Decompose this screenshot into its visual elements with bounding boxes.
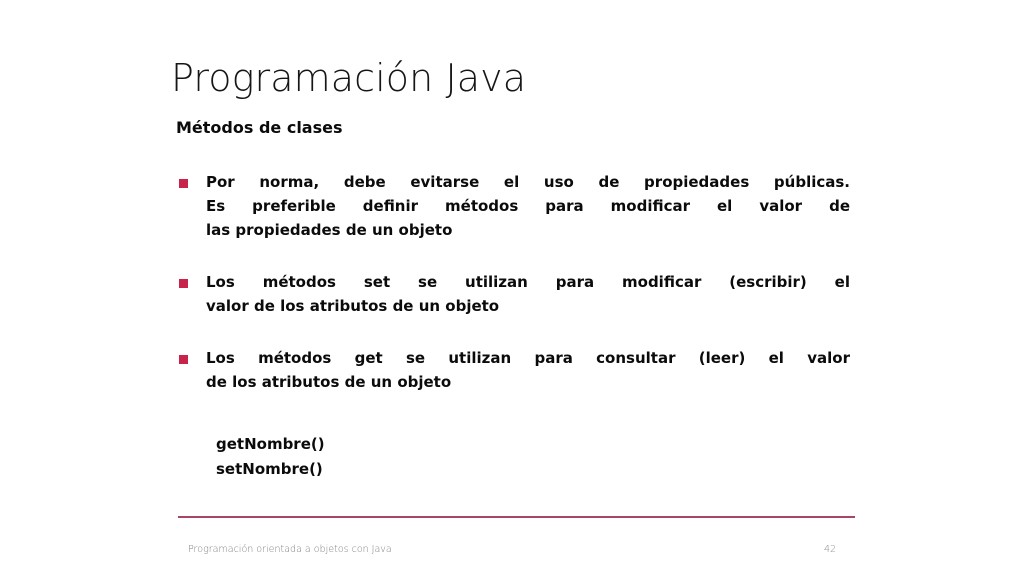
page-title: Programación Java bbox=[171, 56, 526, 100]
text-line: Por norma, debe evitarse el uso de propi… bbox=[206, 170, 850, 194]
code-sample: getNombre() setNombre() bbox=[216, 432, 325, 482]
square-bullet-icon bbox=[179, 279, 188, 288]
square-bullet-icon bbox=[179, 355, 188, 364]
slide-canvas: Programación Java Métodos de clases Por … bbox=[0, 0, 1024, 576]
footer-divider bbox=[178, 516, 855, 518]
text-line: Los métodos get se utilizan para consult… bbox=[206, 346, 850, 370]
text-line: valor de los atributos de un objeto bbox=[206, 294, 850, 318]
list-item: Los métodos get se utilizan para consult… bbox=[178, 346, 850, 394]
section-heading: Métodos de clases bbox=[176, 117, 343, 139]
list-item: Por norma, debe evitarse el uso de propi… bbox=[178, 170, 850, 242]
list-item: Los métodos set se utilizan para modific… bbox=[178, 270, 850, 318]
list-item-text: Los métodos get se utilizan para consult… bbox=[206, 346, 850, 394]
text-line: Los métodos set se utilizan para modific… bbox=[206, 270, 850, 294]
code-line-set: setNombre() bbox=[216, 457, 325, 482]
page-number: 42 bbox=[824, 543, 836, 556]
code-line-get: getNombre() bbox=[216, 432, 325, 457]
text-line: Es preferible definir métodos para modif… bbox=[206, 194, 850, 218]
square-bullet-icon bbox=[179, 179, 188, 188]
text-line: las propiedades de un objeto bbox=[206, 218, 850, 242]
list-item-text: Por norma, debe evitarse el uso de propi… bbox=[206, 170, 850, 242]
footer-course-label: Programación orientada a objetos con Jav… bbox=[188, 543, 392, 556]
text-line: de los atributos de un objeto bbox=[206, 370, 850, 394]
list-item-text: Los métodos set se utilizan para modific… bbox=[206, 270, 850, 318]
bullet-list: Por norma, debe evitarse el uso de propi… bbox=[178, 170, 850, 394]
